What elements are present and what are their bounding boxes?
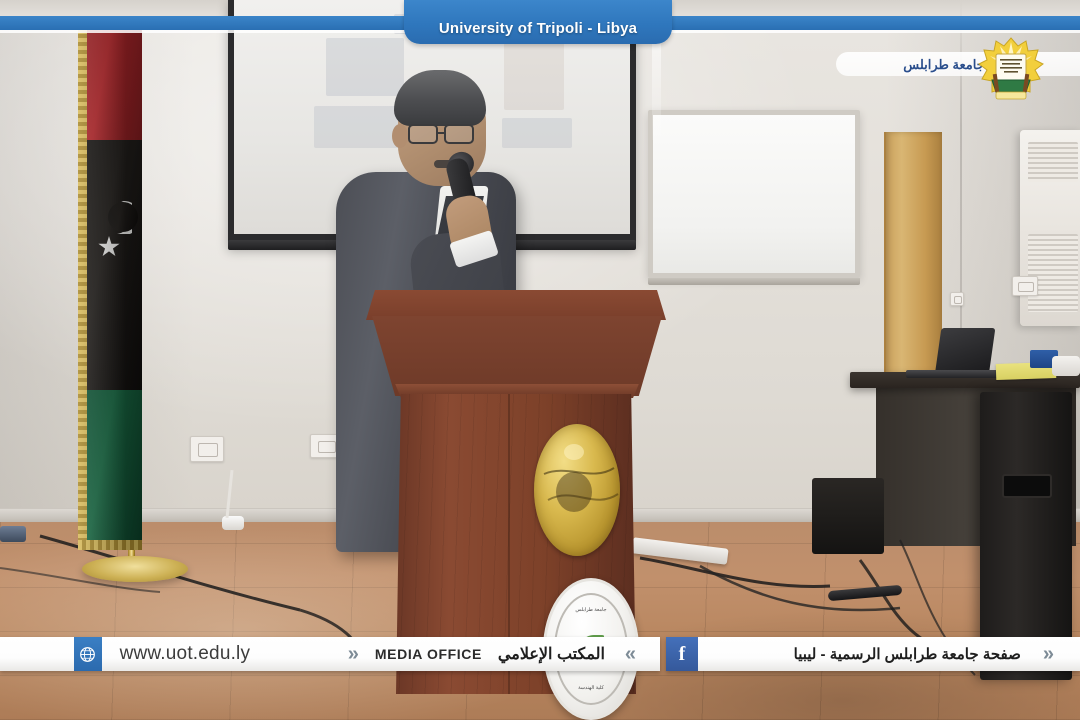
- event-photograph: جامعة طرابلس كلية الهندسة: [0, 0, 1080, 720]
- university-emblem-icon: [978, 34, 1044, 104]
- footer-segment-facebook[interactable]: f صفحة جامعة طرابلس الرسمية - ليبيا »: [666, 637, 1080, 671]
- media-office-label-ar: المكتب الإعلامي: [488, 644, 615, 664]
- facebook-icon[interactable]: f: [666, 637, 698, 671]
- flag-shading: [78, 22, 142, 550]
- chevron-right-icon-2: »: [1033, 644, 1064, 664]
- white-object: [1052, 356, 1080, 376]
- wall-socket: [1012, 276, 1038, 296]
- footer-branding-bar: www.uot.edu.ly » MEDIA OFFICE المكتب الإ…: [0, 637, 1080, 671]
- screenshot-root: جامعة طرابلس كلية الهندسة University of …: [0, 0, 1080, 720]
- facebook-page-label[interactable]: صفحة جامعة طرابلس الرسمية - ليبيا: [782, 645, 1033, 663]
- slide-block: [326, 38, 404, 96]
- whiteboard-tray: [648, 278, 860, 285]
- podium-lectern-top: [366, 290, 666, 320]
- globe-icon[interactable]: [74, 637, 102, 671]
- website-url-text[interactable]: www.uot.edu.ly: [102, 643, 265, 665]
- footer-segment-website[interactable]: www.uot.edu.ly » MEDIA OFFICE المكتب الإ…: [0, 637, 660, 671]
- seal-top-text: جامعة طرابلس: [546, 607, 636, 613]
- ear: [392, 124, 408, 148]
- emblem-banner: [996, 92, 1026, 99]
- eyeglasses-left-lens: [408, 124, 438, 144]
- eyeglasses-right-lens: [444, 124, 474, 144]
- title-tab: University of Tripoli - Libya: [404, 0, 672, 44]
- floor-adapter: [0, 526, 26, 542]
- ac-grill-lower: [1028, 234, 1078, 312]
- page-title: University of Tripoli - Libya: [439, 20, 637, 37]
- laptop-screen: [935, 328, 996, 376]
- plaque-cable-shadow: [534, 424, 620, 556]
- eyeglasses-bridge: [438, 132, 446, 134]
- ac-grill-upper: [1028, 142, 1078, 182]
- media-office-label-en: MEDIA OFFICE: [369, 646, 488, 662]
- libya-flag: [78, 22, 142, 550]
- podium-brass-plaque: [534, 424, 620, 556]
- title-tab-stub: [652, 44, 661, 140]
- seal-bottom-text: كلية الهندسة: [546, 685, 636, 691]
- flag-stand-base: [82, 556, 188, 582]
- laptop-keyboard: [906, 370, 1002, 378]
- air-conditioner: [1020, 130, 1080, 326]
- university-arabic-wordmark: جامعة طرابلس: [898, 48, 990, 82]
- chevron-right-icon: »: [338, 644, 369, 664]
- globe-icon-glyph: [79, 646, 96, 663]
- whiteboard: [648, 110, 860, 278]
- chevron-left-icon: «: [615, 644, 646, 664]
- slide-block: [502, 118, 572, 148]
- wall-socket: [950, 292, 964, 306]
